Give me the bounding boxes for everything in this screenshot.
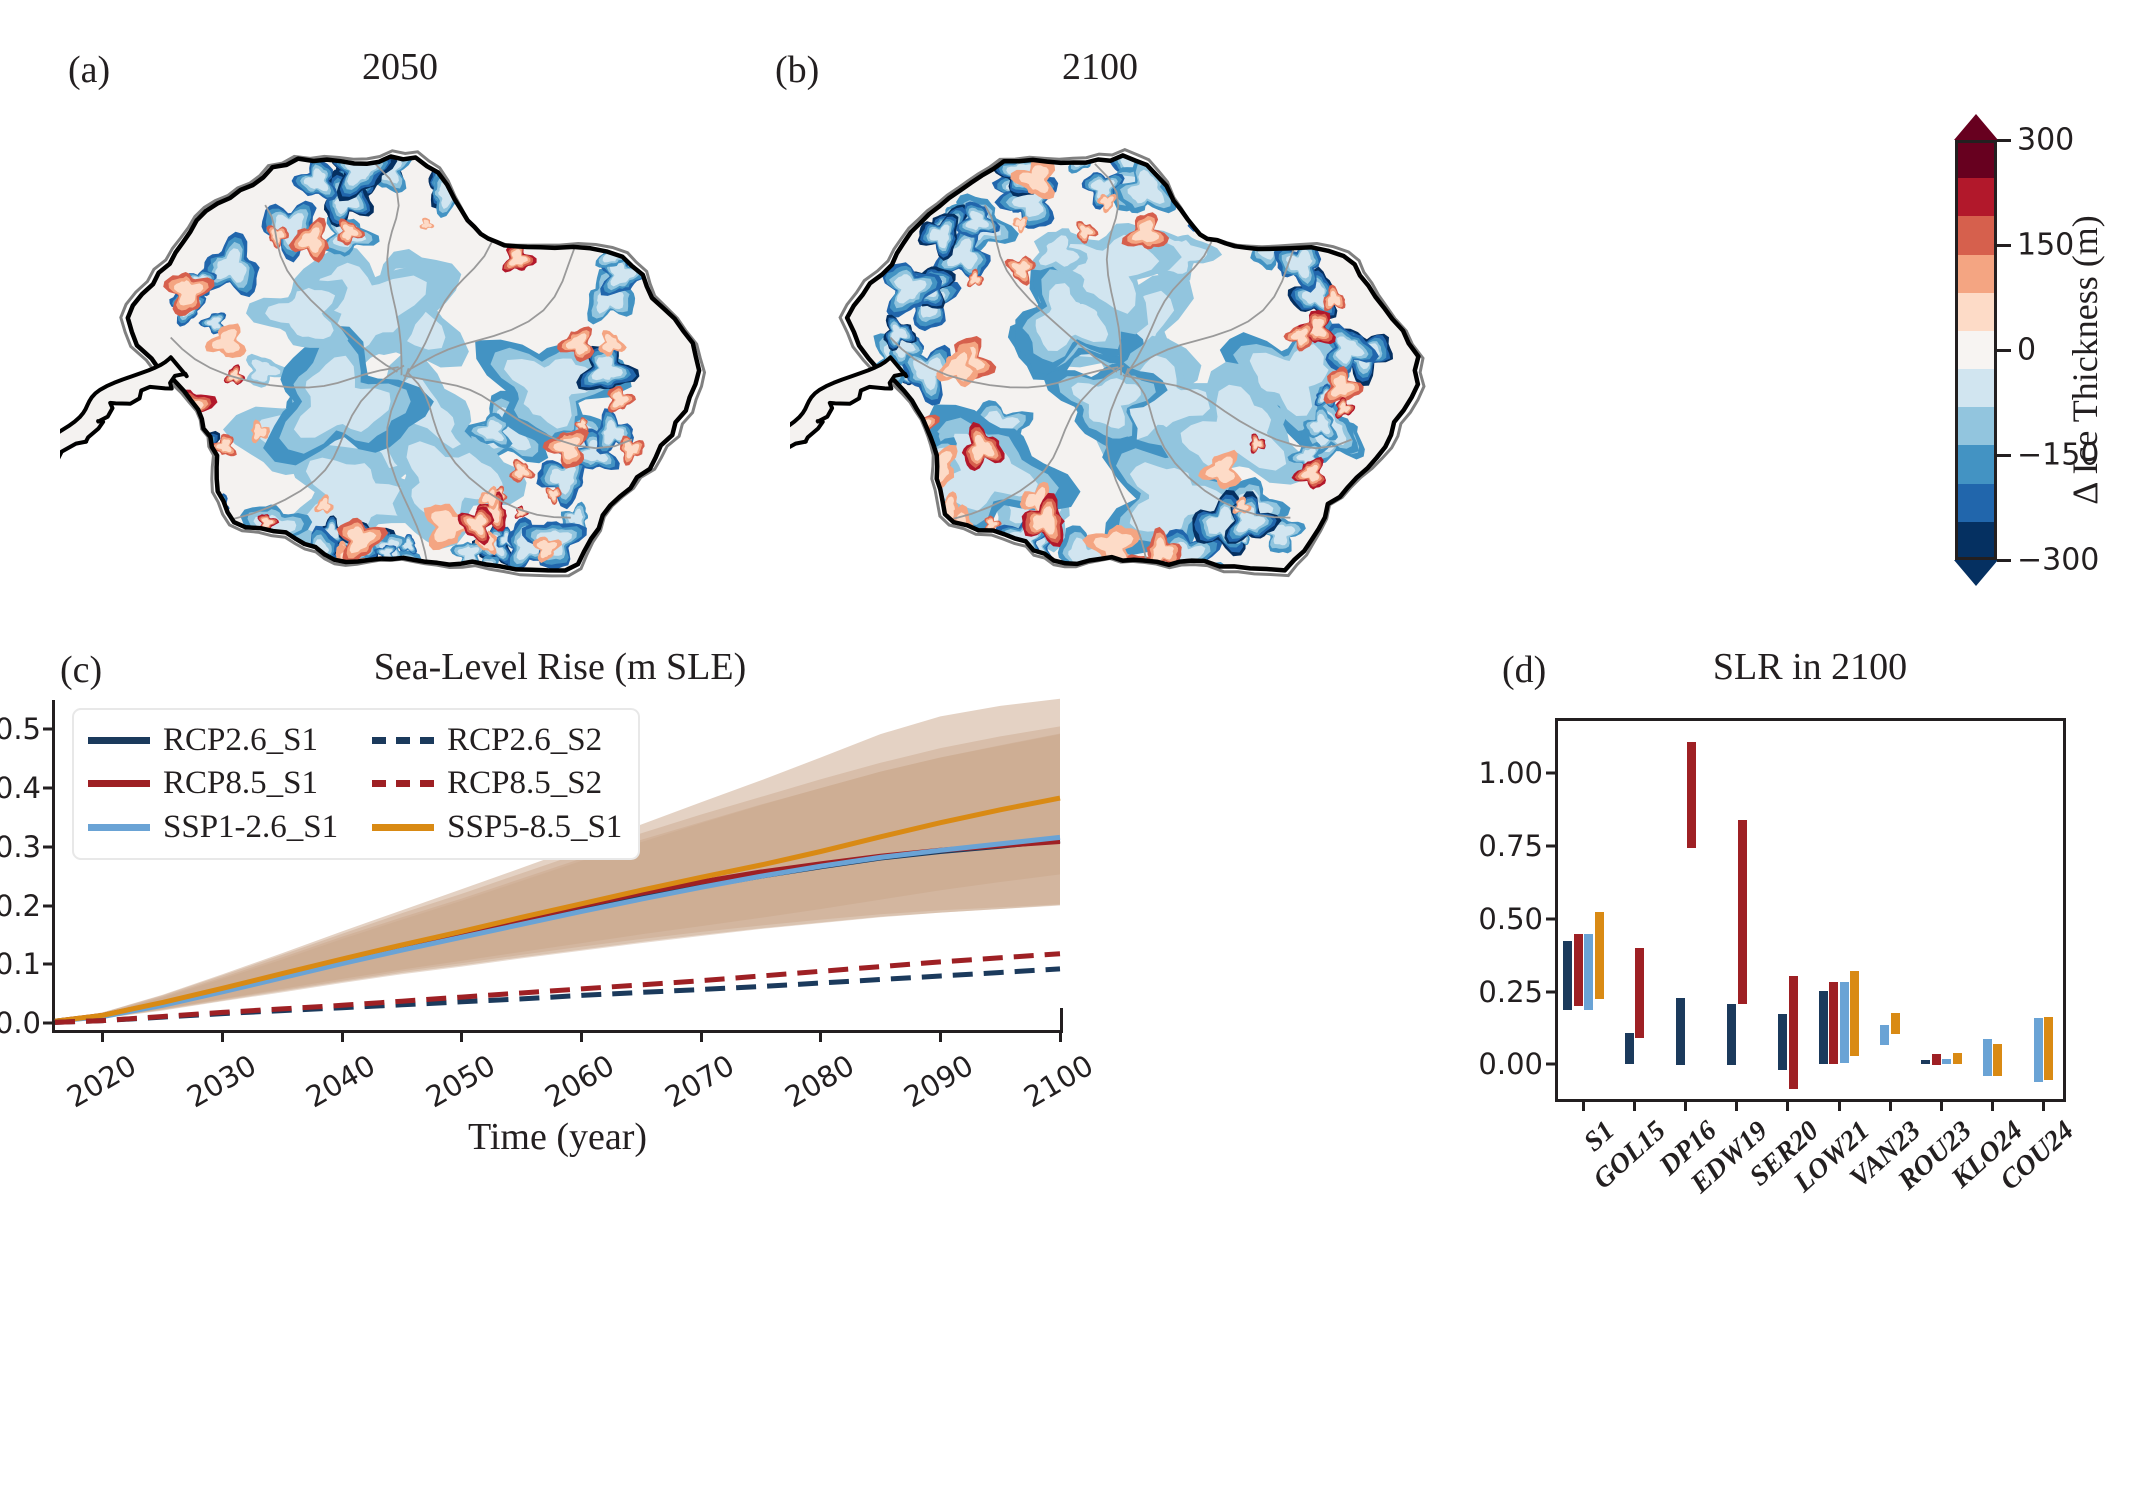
panel-d-y-ticklabel: 0.75 bbox=[1478, 829, 1558, 863]
anomaly-contour bbox=[541, 215, 557, 234]
anomaly-contour bbox=[326, 563, 364, 602]
panel-d-title: SLR in 2100 bbox=[1610, 645, 2010, 689]
anomaly-contour bbox=[1194, 199, 1224, 227]
anomaly-contour bbox=[373, 569, 399, 591]
anomaly-contour bbox=[1190, 570, 1217, 592]
colorbar-axis-label: Δ Ice Thickness (m) bbox=[2064, 215, 2106, 504]
legend-swatch-ssp585-s1 bbox=[372, 824, 434, 831]
panel-d-plot-area: 0.000.250.500.751.00S1GOL15DP16EDW19SER2… bbox=[1555, 718, 2066, 1102]
anomaly-contour bbox=[535, 209, 563, 241]
range-bar bbox=[1778, 1014, 1787, 1070]
anomaly-contour bbox=[1198, 187, 1245, 223]
panel-c-x-tickmark bbox=[1059, 1030, 1062, 1042]
panel-c-timeseries: (c) Sea-Level Rise (m SLE) 0.00.10.20.30… bbox=[0, 640, 1480, 1511]
panel-d-x-tickmark bbox=[1735, 1099, 1738, 1111]
legend-label-rcp26-s2: RCP2.6_S2 bbox=[447, 720, 602, 761]
antarctic-peninsula bbox=[60, 357, 187, 513]
anomaly-contour bbox=[1260, 185, 1307, 230]
legend-swatch-rcp26-s1 bbox=[88, 737, 150, 744]
panel-c-x-ticklabel: 2060 bbox=[539, 1048, 620, 1114]
panel-c-x-ticklabel: 2100 bbox=[1018, 1048, 1099, 1114]
range-bar bbox=[1676, 998, 1685, 1065]
panel-a-title: 2050 bbox=[250, 45, 550, 89]
anomaly-contour bbox=[188, 439, 210, 459]
anomaly-contour bbox=[920, 481, 931, 494]
panel-d-y-ticklabel: 0.50 bbox=[1478, 902, 1558, 936]
antarctica-map-svg bbox=[60, 100, 720, 620]
anomaly-contour bbox=[1253, 178, 1315, 237]
range-bar bbox=[1932, 1054, 1941, 1065]
anomaly-contour bbox=[894, 429, 928, 467]
anomaly-contour bbox=[1181, 168, 1194, 180]
range-bar bbox=[1850, 971, 1859, 1055]
range-bar bbox=[1687, 742, 1696, 848]
anomaly-contour bbox=[455, 178, 477, 196]
anomaly-contour bbox=[371, 572, 381, 581]
legend-label-rcp85-s1: RCP8.5_S1 bbox=[163, 763, 318, 804]
panel-c-x-tickmark bbox=[819, 1030, 822, 1042]
anomaly-contour bbox=[1240, 162, 1279, 210]
anomaly-contour bbox=[1088, 556, 1144, 607]
anomaly-contour bbox=[1197, 201, 1222, 224]
anomaly-contour bbox=[1189, 180, 1252, 228]
range-bar bbox=[2034, 1018, 2043, 1082]
colorbar-tick-label: 0 bbox=[2017, 333, 2036, 368]
panel-d-x-tickmark bbox=[1991, 1099, 1994, 1111]
anomaly-contour bbox=[487, 170, 514, 195]
panel-d-letter: (d) bbox=[1502, 648, 1546, 692]
colorbar-tick bbox=[1997, 454, 2011, 457]
panel-c-x-ticklabel: 2050 bbox=[420, 1048, 501, 1114]
anomaly-contour bbox=[467, 189, 488, 206]
anomaly-contour bbox=[534, 211, 552, 231]
panel-c-y-ticklabel: 0.1 bbox=[0, 947, 55, 981]
range-bar bbox=[1953, 1053, 1962, 1064]
panel-d-x-tickmark bbox=[1633, 1099, 1636, 1111]
panel-c-letter: (c) bbox=[60, 648, 102, 692]
panel-c-x-ticklabel: 2080 bbox=[779, 1048, 860, 1114]
panel-d-x-tickmark bbox=[1582, 1099, 1585, 1111]
antarctica-map-2050 bbox=[60, 100, 720, 620]
range-bar bbox=[2044, 1017, 2053, 1080]
panel-d-x-tickmark bbox=[1838, 1099, 1841, 1111]
anomaly-contour bbox=[1205, 204, 1238, 232]
anomaly-contour bbox=[462, 186, 491, 210]
anomaly-contour bbox=[532, 209, 553, 233]
panel-b-letter: (b) bbox=[775, 48, 819, 92]
anomaly-contour bbox=[1199, 200, 1242, 237]
anomaly-contour bbox=[545, 190, 581, 222]
panel-c-legend: RCP2.6_S1 RCP2.6_S2 RCP8.5_S1 RCP8.5_S2 … bbox=[72, 708, 640, 860]
anomaly-contour bbox=[1247, 174, 1268, 200]
anomaly-contour bbox=[1256, 182, 1311, 235]
anomaly-contour bbox=[368, 570, 384, 585]
range-bar bbox=[1921, 1060, 1930, 1064]
colorbar-tick-label: −300 bbox=[2017, 543, 2099, 578]
anomaly-contour bbox=[367, 569, 386, 587]
anomaly-contour bbox=[370, 565, 402, 594]
anomaly-contour bbox=[361, 560, 409, 602]
anomaly-contour bbox=[542, 188, 582, 225]
legend-label-rcp85-s2: RCP8.5_S2 bbox=[447, 763, 602, 804]
anomaly-contour bbox=[1268, 191, 1299, 221]
anomaly-contour bbox=[529, 205, 557, 238]
panel-d-y-ticklabel: 0.00 bbox=[1478, 1047, 1558, 1081]
legend-swatch-ssp126-s1 bbox=[88, 824, 150, 831]
anomaly-contour bbox=[548, 193, 576, 219]
anomaly-contour bbox=[1241, 167, 1275, 208]
panel-d-slr-2100: (d) SLR in 2100 0.000.250.500.751.00S1GO… bbox=[1480, 640, 2132, 1511]
panel-d-x-tickmark bbox=[2042, 1099, 2045, 1111]
range-bar bbox=[1574, 934, 1583, 1006]
anomaly-contour bbox=[921, 482, 930, 492]
legend-swatch-rcp85-s2 bbox=[372, 780, 434, 787]
anomaly-contour bbox=[332, 570, 355, 594]
colorbar-extend-down-icon bbox=[1954, 560, 1998, 586]
anomaly-contour bbox=[462, 161, 495, 189]
anomaly-contour bbox=[490, 173, 512, 193]
anomaly-contour bbox=[370, 571, 383, 583]
anomaly-contour bbox=[531, 207, 559, 242]
range-bar bbox=[1819, 991, 1828, 1065]
anomaly-contour bbox=[552, 195, 574, 215]
panel-c-x-tickmark bbox=[221, 1030, 224, 1042]
antarctica-map-2100 bbox=[790, 100, 1430, 620]
panel-a-letter: (a) bbox=[68, 48, 110, 92]
colorbar-tick bbox=[1997, 349, 2011, 352]
anomaly-contour bbox=[1208, 179, 1233, 201]
panel-c-x-ticklabel: 2020 bbox=[61, 1048, 142, 1114]
anomaly-contour bbox=[537, 212, 559, 238]
anomaly-contour bbox=[1192, 162, 1228, 194]
panel-c-x-axis bbox=[52, 1030, 1063, 1033]
anomaly-contour bbox=[491, 182, 516, 203]
anomaly-contour bbox=[375, 565, 397, 583]
anomaly-contour bbox=[1202, 190, 1241, 221]
panel-c-x-ticklabel: 2090 bbox=[898, 1048, 979, 1114]
colorbar-frame bbox=[1955, 140, 1997, 560]
anomaly-contour bbox=[1245, 171, 1272, 204]
colorbar-tick bbox=[1997, 559, 2011, 562]
panel-d-y-ticklabel: 0.25 bbox=[1478, 975, 1558, 1009]
range-bar bbox=[1983, 1039, 1992, 1077]
colorbar-extend-up-icon bbox=[1954, 114, 1998, 140]
anomaly-contour bbox=[330, 567, 360, 598]
range-bar bbox=[1738, 820, 1747, 1003]
panel-c-y-ticklabel: 0.3 bbox=[0, 830, 55, 864]
panel-d-x-tickmark bbox=[1684, 1099, 1687, 1111]
range-bar bbox=[1635, 948, 1644, 1038]
anomaly-contour bbox=[873, 389, 894, 411]
legend-item-ssp585-s1: SSP5-8.5_S1 bbox=[372, 807, 622, 848]
range-bar bbox=[1789, 976, 1798, 1089]
anomaly-contour bbox=[1119, 562, 1145, 585]
legend-item-rcp85-s1: RCP8.5_S1 bbox=[88, 763, 338, 804]
panel-c-xlabel: Time (year) bbox=[468, 1115, 647, 1159]
range-bar bbox=[1625, 1033, 1634, 1064]
range-bar bbox=[1993, 1044, 2002, 1076]
anomaly-contour bbox=[919, 480, 933, 495]
panel-c-x-tickmark bbox=[700, 1030, 703, 1042]
anomaly-contour bbox=[1098, 564, 1136, 598]
anomaly-contour bbox=[379, 568, 394, 580]
legend-label-rcp26-s1: RCP2.6_S1 bbox=[163, 720, 318, 761]
antarctic-peninsula bbox=[790, 357, 906, 513]
anomaly-contour bbox=[534, 211, 556, 238]
anomaly-contour bbox=[1199, 167, 1224, 188]
anomaly-contour bbox=[365, 562, 407, 598]
anomaly-contour bbox=[531, 208, 555, 236]
panel-c-x-tickmark bbox=[460, 1030, 463, 1042]
legend-item-rcp26-s2: RCP2.6_S2 bbox=[372, 720, 622, 761]
anomaly-contour bbox=[374, 564, 399, 585]
panel-d-x-tickmark bbox=[1889, 1099, 1892, 1111]
anomaly-contour bbox=[377, 567, 395, 582]
panel-c-y-ticklabel: 0.5 bbox=[0, 712, 55, 746]
anomaly-contour bbox=[535, 213, 549, 229]
panel-c-y-ticklabel: 0.0 bbox=[0, 1006, 55, 1040]
anomaly-contour bbox=[1200, 203, 1220, 222]
legend-label-ssp126-s1: SSP1-2.6_S1 bbox=[163, 807, 338, 848]
anomaly-contour bbox=[1185, 156, 1234, 198]
legend-label-ssp585-s1: SSP5-8.5_S1 bbox=[447, 807, 622, 848]
range-bar bbox=[1840, 982, 1849, 1063]
anomaly-contour bbox=[466, 165, 491, 186]
range-bar bbox=[1880, 1025, 1889, 1045]
anomaly-contour bbox=[1194, 184, 1249, 225]
range-bar bbox=[1727, 1004, 1736, 1065]
anomaly-contour bbox=[1202, 205, 1218, 220]
antarctica-map-svg bbox=[790, 100, 1430, 620]
anomaly-contour bbox=[494, 184, 513, 201]
range-bar bbox=[1563, 941, 1572, 1011]
range-bar bbox=[1942, 1059, 1951, 1064]
legend-item-ssp126-s1: SSP1-2.6_S1 bbox=[88, 807, 338, 848]
panel-c-x-ticklabel: 2030 bbox=[181, 1048, 262, 1114]
anomaly-contour bbox=[1196, 165, 1226, 191]
panel-c-x-tickmark bbox=[580, 1030, 583, 1042]
anomaly-contour bbox=[1189, 160, 1230, 196]
anomaly-contour bbox=[1204, 175, 1235, 203]
anomaly-contour bbox=[537, 214, 554, 234]
anomaly-contour bbox=[459, 184, 495, 213]
range-bar bbox=[1829, 982, 1838, 1064]
anomaly-contour bbox=[456, 157, 498, 193]
panel-c-y-ticklabel: 0.4 bbox=[0, 771, 55, 805]
ice-thickness-colorbar: 3001500−150−300 bbox=[1955, 140, 1997, 560]
panel-c-title: Sea-Level Rise (m SLE) bbox=[250, 645, 870, 689]
anomaly-contour bbox=[372, 562, 401, 587]
anomaly-contour bbox=[493, 176, 509, 191]
panel-c-x-ticklabel: 2040 bbox=[300, 1048, 381, 1114]
colorbar-tick bbox=[1997, 244, 2011, 247]
legend-swatch-rcp26-s2 bbox=[372, 737, 434, 744]
anomaly-contour bbox=[1184, 170, 1193, 178]
anomaly-contour bbox=[1207, 194, 1238, 218]
anomaly-contour bbox=[1211, 181, 1230, 198]
range-bar bbox=[1584, 934, 1593, 1010]
panel-c-x-tickmark bbox=[341, 1030, 344, 1042]
panel-d-y-ticklabel: 1.00 bbox=[1478, 756, 1558, 790]
anomaly-contour bbox=[1185, 566, 1221, 597]
colorbar-tick-label: 300 bbox=[2017, 123, 2074, 158]
panel-d-x-tickmark bbox=[1786, 1099, 1789, 1111]
panel-c-x-tickmark bbox=[101, 1030, 104, 1042]
panel-d-x-tickmark bbox=[1940, 1099, 1943, 1111]
legend-item-rcp85-s2: RCP8.5_S2 bbox=[372, 763, 622, 804]
panel-c-x-tickmark bbox=[939, 1030, 942, 1042]
panel-c-x-ticklabel: 2070 bbox=[659, 1048, 740, 1114]
anomaly-contour bbox=[1194, 196, 1247, 240]
colorbar-tick bbox=[1997, 139, 2011, 142]
panel-c-y-ticklabel: 0.2 bbox=[0, 889, 55, 923]
anomaly-contour bbox=[496, 187, 510, 199]
range-bar bbox=[1595, 912, 1604, 999]
range-bar bbox=[1891, 1013, 1900, 1033]
legend-swatch-rcp85-s1 bbox=[88, 780, 150, 787]
legend-item-rcp26-s1: RCP2.6_S1 bbox=[88, 720, 338, 761]
panel-b-title: 2100 bbox=[950, 45, 1250, 89]
anomaly-contour bbox=[1265, 188, 1304, 226]
